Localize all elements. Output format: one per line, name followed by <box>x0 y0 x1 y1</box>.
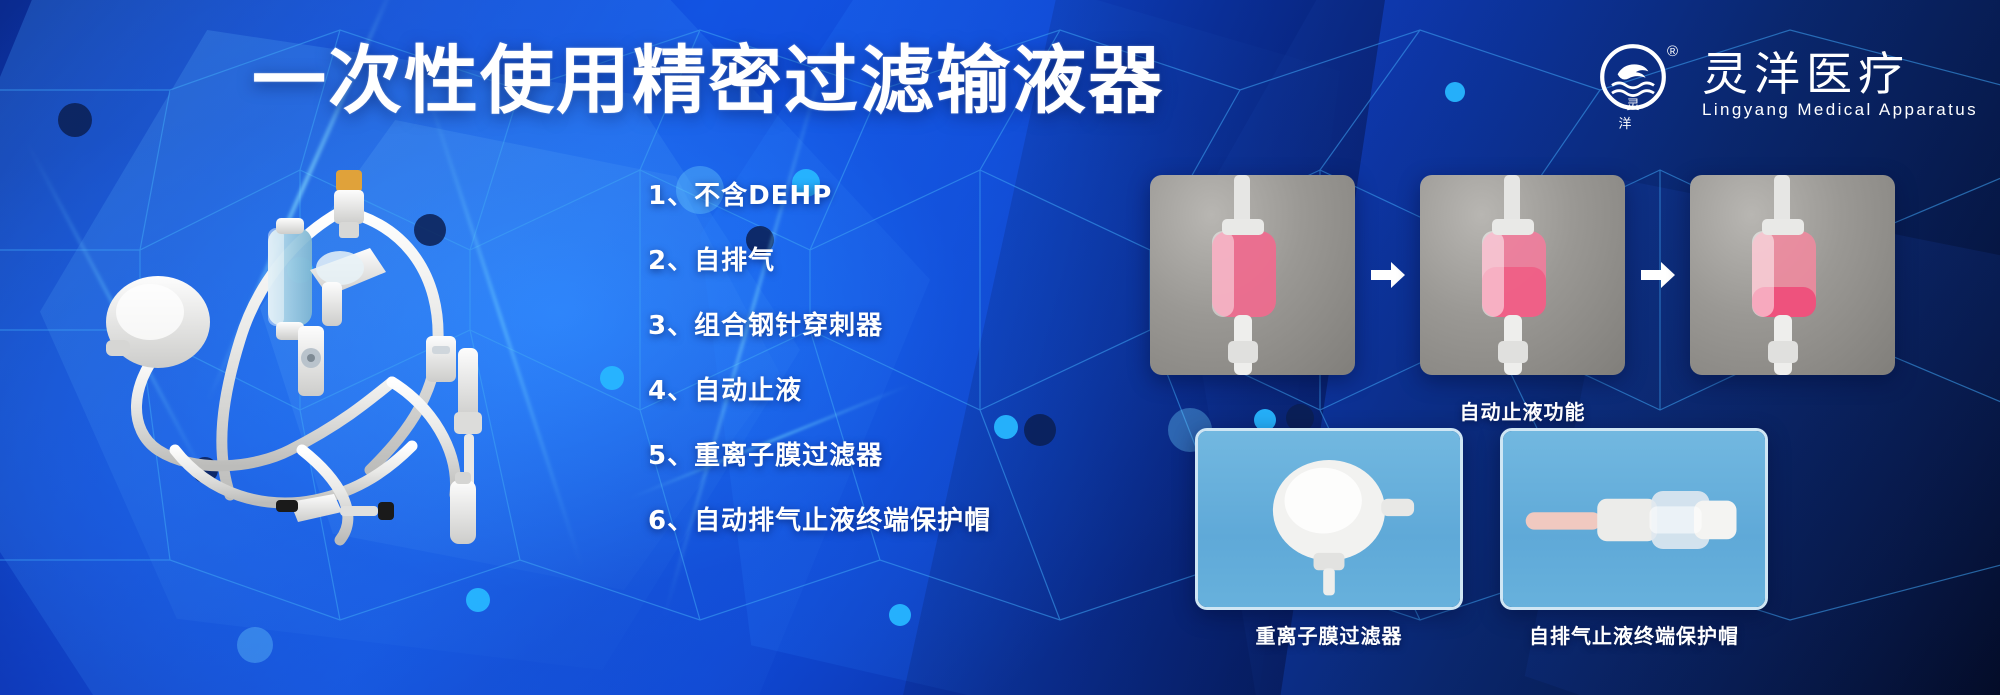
sequence-frame-1-image <box>1150 175 1355 375</box>
feature-item: 6、自动排气止液终端保护帽 <box>648 500 991 537</box>
banner-title: 一次性使用精密过滤输液器 <box>252 44 1164 118</box>
product-card-filter-caption: 重离子膜过滤器 <box>1195 620 1463 649</box>
feature-label: 自动排气止液终端保护帽 <box>694 506 991 536</box>
product-card-filter-image <box>1198 431 1460 607</box>
arrow-right-icon <box>1638 258 1678 292</box>
product-card-cap <box>1500 428 1768 610</box>
roller-clamp <box>298 326 324 396</box>
feature-item: 4、自动止液 <box>648 370 991 407</box>
feature-item: 2、自排气 <box>648 240 991 277</box>
sequence-frame-2-image <box>1420 175 1625 375</box>
logo-mark-caption: 灵洋 <box>1598 94 1668 132</box>
feature-label: 自排气 <box>694 246 775 276</box>
feature-label: 自动止液 <box>694 376 802 406</box>
feature-label: 重离子膜过滤器 <box>694 441 883 471</box>
product-hero-photo <box>40 150 660 550</box>
brand-name-en: Lingyang Medical Apparatus <box>1702 100 1978 120</box>
sequence-frame-3-image <box>1690 175 1895 375</box>
feature-label: 组合钢针穿刺器 <box>694 311 883 341</box>
brand-text-block: 灵洋医疗 Lingyang Medical Apparatus <box>1702 50 1978 120</box>
photo-sequence-caption: 自动止液功能 <box>1150 396 1895 425</box>
sequence-frame-2 <box>1420 175 1625 375</box>
y-injection-site <box>310 248 386 326</box>
product-card-cap-caption: 自排气止液终端保护帽 <box>1470 620 1798 649</box>
arrow-right-icon <box>1368 258 1408 292</box>
brand-name-cn: 灵洋医疗 <box>1702 50 1978 98</box>
feature-item: 1、不含DEHP <box>648 175 991 212</box>
feature-item: 5、重离子膜过滤器 <box>648 435 991 472</box>
flow-regulator <box>426 336 456 382</box>
product-card-filter <box>1195 428 1463 610</box>
logo-mark-wrapper: ® 灵洋 <box>1598 42 1684 128</box>
feature-list: 1、不含DEHP 2、自排气 3、组合钢针穿刺器 4、自动止液 5、重离子膜过滤… <box>648 175 991 537</box>
feature-item: 3、组合钢针穿刺器 <box>648 305 991 342</box>
sequence-frame-1 <box>1150 175 1355 375</box>
registered-trademark-icon: ® <box>1667 44 1678 59</box>
product-card-cap-image <box>1503 431 1765 607</box>
feature-label: 不含DEHP <box>694 181 832 211</box>
terminal-cap <box>450 472 476 544</box>
brand-logo-block: ® 灵洋 灵洋医疗 Lingyang Medical Apparatus <box>1598 42 1978 128</box>
drip-chamber <box>268 218 312 340</box>
air-filter-dome <box>106 276 210 368</box>
sequence-frame-3 <box>1690 175 1895 375</box>
product-banner: 一次性使用精密过滤输液器 ® 灵洋 灵洋医疗 Lingyang Medical … <box>0 0 2000 695</box>
spike-connector <box>334 170 364 238</box>
